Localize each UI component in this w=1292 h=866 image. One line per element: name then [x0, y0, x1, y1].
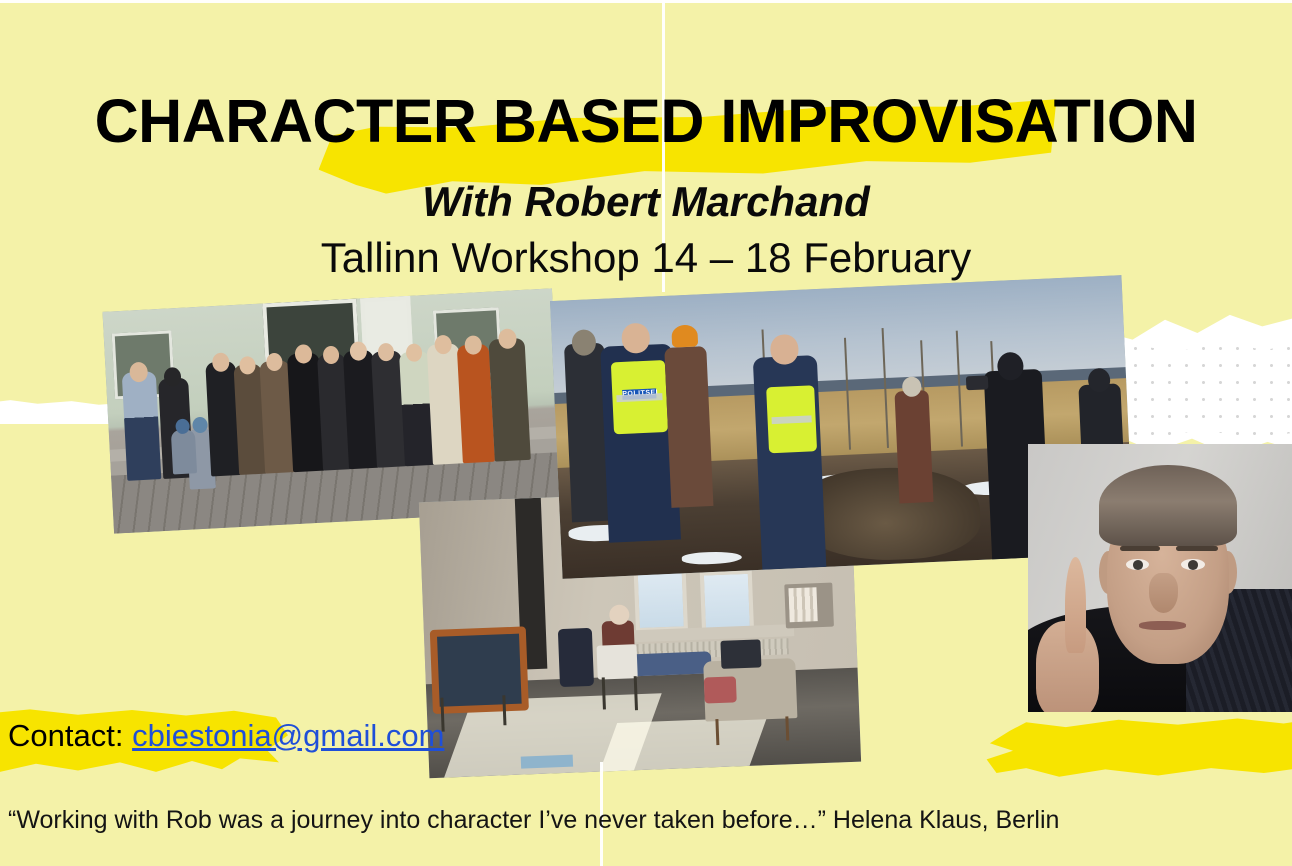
shelf-books [788, 587, 817, 622]
portrait-eyebrow-left [1120, 546, 1160, 551]
person [122, 371, 162, 481]
group-photo [102, 288, 563, 533]
person [488, 338, 530, 462]
seated-chair [596, 644, 637, 680]
camera [966, 375, 989, 390]
dark-chair [720, 639, 761, 669]
contact-label: Contact: [8, 718, 123, 753]
orange-hat [671, 324, 698, 347]
portrait-mouth [1139, 621, 1187, 630]
testimonial-quote: “Working with Rob was a journey into cha… [8, 806, 1059, 835]
contact-line: Contact: cbiestonia@gmail.com [8, 718, 444, 754]
portrait-hair [1099, 465, 1236, 545]
politsei-vest-2 [766, 385, 817, 453]
seated-person-legs [629, 651, 712, 676]
portrait-eyebrow-right [1176, 546, 1218, 551]
page-title: CHARACTER BASED IMPROVISATION [0, 86, 1292, 156]
bottom-right-brush-stroke [980, 716, 1292, 778]
divider-line-top-edge [0, 0, 1292, 3]
armchair-cushion [704, 676, 737, 703]
portrait-raised-index-finger [1065, 557, 1086, 653]
politsei-vest-1: POLITSEI [611, 360, 668, 434]
subtitle-presenter: With Robert Marchand [0, 178, 1292, 226]
portrait-pupil-left [1133, 560, 1143, 569]
poster-canvas: POLITSEI [0, 0, 1292, 866]
person-brown-coat [894, 390, 933, 503]
portrait-pupil-right [1188, 560, 1198, 569]
sunlight-patch [600, 717, 767, 771]
person-child [171, 429, 197, 474]
wooden-armchair [430, 626, 529, 714]
workshop-dateline: Tallinn Workshop 14 – 18 February [0, 234, 1292, 282]
floor-tile-blue [521, 755, 573, 769]
portrait-photo [1028, 444, 1292, 712]
politsei-vest-text: POLITSEI [622, 388, 656, 400]
contact-email-link[interactable]: cbiestonia@gmail.com [132, 718, 444, 753]
person-orange-hat [664, 346, 713, 508]
coat-on-bench [558, 628, 594, 687]
